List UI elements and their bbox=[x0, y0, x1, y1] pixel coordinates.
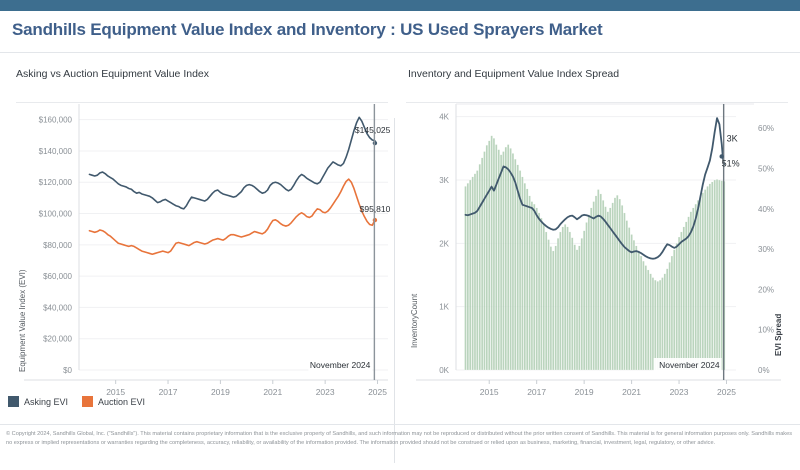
panel-divider bbox=[394, 118, 395, 463]
x-tick-label: 2017 bbox=[527, 387, 546, 397]
auction-evi-value-label: $95,810 bbox=[360, 204, 391, 214]
inventory-bars bbox=[465, 136, 726, 370]
page-title: Sandhills Equipment Value Index and Inve… bbox=[12, 20, 602, 40]
x-tick-label: 2025 bbox=[717, 387, 736, 397]
chart-top-rule-right bbox=[406, 102, 788, 103]
x-tick-label: 2019 bbox=[211, 387, 230, 397]
asking-evi-value-label: $145,025 bbox=[355, 125, 391, 135]
x-tick-label: 2023 bbox=[670, 387, 689, 397]
chart-svg-right: 0K1K2K3K4K0%10%20%30%40%50%60%2015201720… bbox=[396, 58, 796, 418]
legend-item-asking[interactable]: Asking EVI bbox=[8, 396, 68, 407]
y-tick-label-right: 10% bbox=[758, 326, 774, 335]
y-tick-label-left: 3K bbox=[439, 176, 449, 185]
charts-container: Asking vs Auction Equipment Value Index … bbox=[0, 58, 800, 418]
chart-title-right: Inventory and Equipment Value Index Spre… bbox=[408, 68, 619, 80]
chart-panel-asking-vs-auction: Asking vs Auction Equipment Value Index … bbox=[4, 58, 394, 418]
legend-swatch-auction bbox=[82, 396, 93, 407]
chart-svg-left: $0$20,000$40,000$60,000$80,000$100,000$1… bbox=[4, 58, 394, 418]
y-tick-label: $80,000 bbox=[43, 241, 72, 250]
chart-title-left: Asking vs Auction Equipment Value Index bbox=[16, 68, 209, 80]
y-tick-label-right: 30% bbox=[758, 245, 774, 254]
legend-item-auction[interactable]: Auction EVI bbox=[82, 396, 145, 407]
y-tick-label-right: 20% bbox=[758, 285, 774, 294]
x-tick-label: 2021 bbox=[263, 387, 282, 397]
y-tick-label: $120,000 bbox=[39, 178, 73, 187]
title-divider bbox=[0, 52, 800, 53]
y-tick-label: $40,000 bbox=[43, 303, 72, 312]
footer-divider bbox=[0, 424, 800, 425]
header-accent-bar bbox=[0, 0, 800, 11]
copyright-footer: © Copyright 2024, Sandhills Global, Inc.… bbox=[6, 430, 794, 447]
inventory-value-label: 3K bbox=[727, 133, 738, 143]
legend-swatch-asking bbox=[8, 396, 19, 407]
x-tick-label: 2015 bbox=[480, 387, 499, 397]
x-tick-label: 2017 bbox=[159, 387, 178, 397]
y-tick-label-left: 2K bbox=[439, 239, 449, 248]
evi-spread-value-label: 51% bbox=[722, 158, 740, 168]
y-tick-label-right: 50% bbox=[758, 164, 774, 173]
x-tick-label: 2023 bbox=[316, 387, 335, 397]
y-axis-label-left: Equipment Value Index (EVI) bbox=[18, 236, 27, 372]
chart-top-rule-left bbox=[16, 102, 388, 103]
y-tick-label-right: 60% bbox=[758, 124, 774, 133]
series-line-asking bbox=[89, 117, 374, 209]
y-axis-label-right-right: EVI Spread bbox=[774, 276, 783, 356]
x-tick-label: 2019 bbox=[575, 387, 594, 397]
y-tick-label: $140,000 bbox=[39, 147, 73, 156]
x-tick-label: 2021 bbox=[622, 387, 641, 397]
y-tick-label-left: 1K bbox=[439, 303, 449, 312]
y-tick-label-left: 0K bbox=[439, 366, 449, 375]
y-tick-label-left: 4K bbox=[439, 113, 449, 122]
y-tick-label: $20,000 bbox=[43, 335, 72, 344]
legend: Asking EVI Auction EVI bbox=[8, 396, 145, 407]
y-tick-label-right: 0% bbox=[758, 366, 770, 375]
y-axis-label-right-left: InventoryCount bbox=[410, 238, 419, 348]
y-tick-label: $0 bbox=[63, 366, 72, 375]
legend-label-asking: Asking EVI bbox=[24, 397, 68, 407]
y-tick-label: $60,000 bbox=[43, 272, 72, 281]
y-tick-label: $100,000 bbox=[39, 210, 73, 219]
november-marker-label: November 2024 bbox=[310, 360, 371, 370]
chart-panel-inventory-spread: Inventory and Equipment Value Index Spre… bbox=[396, 58, 796, 418]
legend-label-auction: Auction EVI bbox=[98, 397, 145, 407]
november-marker-label: November 2024 bbox=[659, 360, 720, 370]
x-tick-label: 2025 bbox=[368, 387, 387, 397]
y-tick-label: $160,000 bbox=[39, 116, 73, 125]
y-tick-label-right: 40% bbox=[758, 205, 774, 214]
